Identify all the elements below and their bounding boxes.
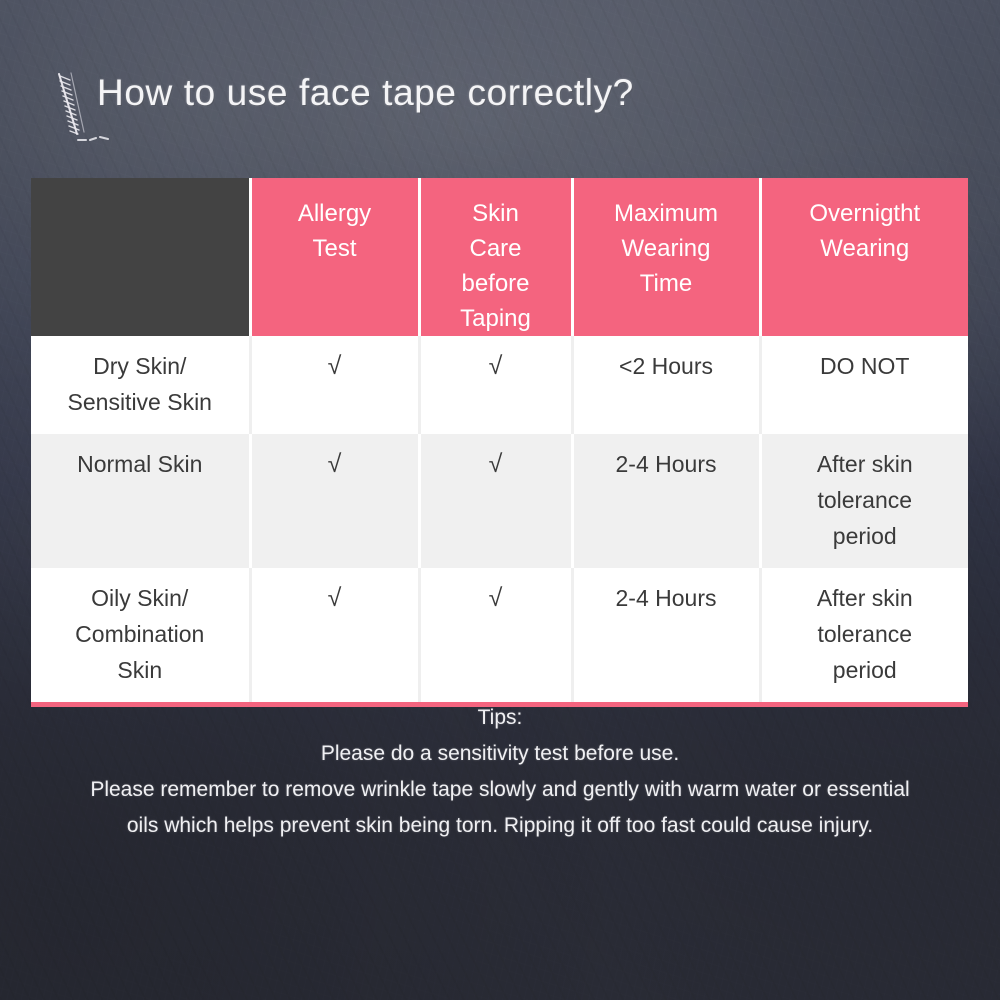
title-row: How to use face tape correctly? [0,72,1000,142]
page-title: How to use face tape correctly? [97,72,634,114]
header-line: Wearing [762,231,969,266]
label-line: Dry Skin/ [39,348,241,384]
row-label-oily-combination-skin: Oily Skin/ Combination Skin [31,568,250,702]
table-row: Normal Skin √ √ 2-4 Hours After skin tol… [31,434,968,568]
checkmark-icon: √ [328,584,342,612]
cell-line: tolerance [770,482,961,518]
header-line: Skin [421,196,571,231]
skin-type-matrix: Allergy Test Skin Care before Taping Max… [31,178,968,702]
label-line: Normal Skin [39,446,241,482]
checkmark-icon: √ [489,352,503,380]
cell-line: period [770,518,961,554]
table-row: Dry Skin/ Sensitive Skin √ √ <2 Hours DO… [31,336,968,434]
tips-line: Please do a sensitivity test before use. [0,736,1000,772]
label-line: Sensitive Skin [39,384,241,420]
cell-maximum-wearing-time: 2-4 Hours [572,434,760,568]
checkmark-icon: √ [328,352,342,380]
cell-line: After skin [770,446,961,482]
header-line: Test [252,231,418,266]
label-line: Skin [39,652,241,688]
cell-maximum-wearing-time: 2-4 Hours [572,568,760,702]
table-header-row: Allergy Test Skin Care before Taping Max… [31,178,968,336]
tips-line: Please remember to remove wrinkle tape s… [0,772,1000,808]
cell-allergy-test: √ [250,568,419,702]
cell-line: After skin [770,580,961,616]
cell-line: period [770,652,961,688]
table-corner-cell [31,178,250,336]
cell-line: DO NOT [770,348,961,384]
cell-allergy-test: √ [250,434,419,568]
guidance-table: Allergy Test Skin Care before Taping Max… [31,178,968,707]
checkmark-icon: √ [489,584,503,612]
column-header-allergy-test: Allergy Test [250,178,419,336]
checkmark-icon: √ [489,450,503,478]
cell-maximum-wearing-time: <2 Hours [572,336,760,434]
label-line: Oily Skin/ [39,580,241,616]
cell-overnight-wearing: After skin tolerance period [760,434,968,568]
header-line: Time [574,266,759,301]
tips-heading: Tips: [0,700,1000,736]
checkmark-icon: √ [328,450,342,478]
header-line: Maximum [574,196,759,231]
table-row: Oily Skin/ Combination Skin √ √ 2-4 Hour… [31,568,968,702]
tips-line: oils which helps prevent skin being torn… [0,808,1000,844]
cell-skin-care-before-taping: √ [419,434,572,568]
header-line: Allergy [252,196,418,231]
tips-section: Tips: Please do a sensitivity test befor… [0,700,1000,844]
cell-skin-care-before-taping: √ [419,568,572,702]
cell-allergy-test: √ [250,336,419,434]
cell-line: tolerance [770,616,961,652]
header-line: Wearing [574,231,759,266]
header-line: Care [421,231,571,266]
header-line: before [421,266,571,301]
column-header-skin-care-before-taping: Skin Care before Taping [419,178,572,336]
column-header-overnight-wearing: Overnigtht Wearing [760,178,968,336]
cell-overnight-wearing: DO NOT [760,336,968,434]
label-line: Combination [39,616,241,652]
header-line: Overnigtht [762,196,969,231]
column-header-maximum-wearing-time: Maximum Wearing Time [572,178,760,336]
header-line: Taping [421,301,571,336]
cell-skin-care-before-taping: √ [419,336,572,434]
row-label-dry-sensitive-skin: Dry Skin/ Sensitive Skin [31,336,250,434]
cell-overnight-wearing: After skin tolerance period [760,568,968,702]
row-label-normal-skin: Normal Skin [31,434,250,568]
